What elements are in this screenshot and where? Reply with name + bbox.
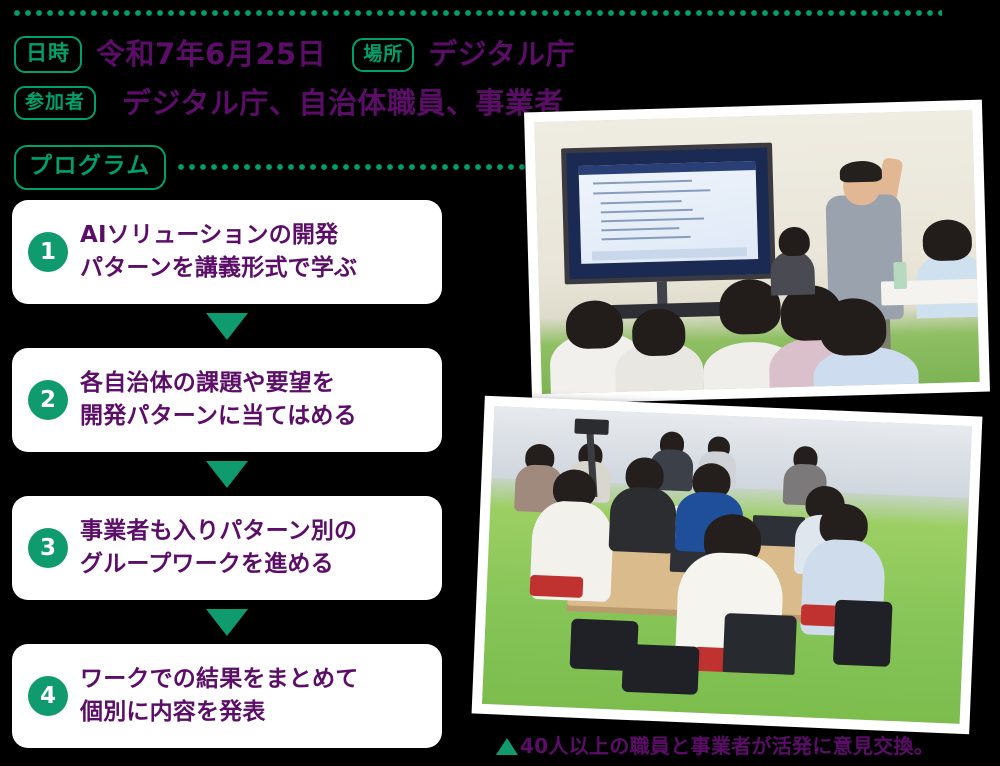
seated-staff-head [778, 226, 809, 257]
groupwork-scene [482, 406, 972, 724]
step-label: AIソリューションの開発 パターンを講義形式で学ぶ [80, 219, 357, 284]
meta-row-participants: 参加者 デジタル庁、自治体職員、事業者 [14, 86, 564, 120]
place-value: デジタル庁 [428, 40, 575, 69]
tote-bag [833, 599, 893, 667]
presentation-screen [561, 143, 775, 285]
program-step-1: 1 AIソリューションの開発 パターンを講義形式で学ぶ [12, 200, 442, 304]
slide-line [602, 227, 680, 231]
top-dotted-divider [14, 10, 942, 18]
audience-head [632, 308, 686, 356]
participants-value: デジタル庁、自治体職員、事業者 [122, 89, 564, 118]
camera [575, 418, 609, 434]
groupwork-photo [472, 396, 983, 735]
step-number-badge: 3 [28, 528, 68, 568]
step-arrow-3-to-4 [12, 600, 442, 644]
lecture-photo-image [534, 110, 979, 394]
step-label: ワークでの結果をまとめて 個別に内容を発表 [80, 663, 358, 728]
step-label: 各自治体の課題や要望を 開発パターンに当てはめる [80, 367, 357, 432]
program-step-2: 2 各自治体の課題や要望を 開発パターンに当てはめる [12, 348, 442, 452]
triangle-down-icon [206, 313, 248, 340]
program-badge: プログラム [14, 145, 166, 190]
step-arrow-2-to-3 [12, 452, 442, 496]
lecture-photo [524, 100, 990, 405]
triangle-down-icon [206, 461, 248, 488]
program-step-4: 4 ワークでの結果をまとめて 個別に内容を発表 [12, 644, 442, 748]
step-arrow-1-to-2 [12, 304, 442, 348]
date-value: 令和7年6月25日 [96, 40, 326, 69]
caption-text: 40人以上の職員と事業者が活発に意見交換。 [520, 736, 934, 756]
participant-body [608, 486, 678, 554]
meta-row-date-place: 日時 令和7年6月25日 場所 デジタル庁 [14, 36, 575, 73]
water-bottle [893, 261, 907, 289]
step-number-badge: 1 [28, 232, 68, 272]
slide-line [601, 209, 693, 214]
lecture-scene [534, 110, 979, 394]
slide-line [601, 217, 703, 222]
seated-staff-body [770, 250, 815, 295]
step-number-badge: 2 [28, 380, 68, 420]
slide-taskbar [592, 248, 747, 261]
program-dotted-divider [178, 164, 538, 172]
date-badge: 日時 [14, 36, 82, 73]
slide-topbar [579, 161, 755, 175]
slide-page [579, 161, 758, 264]
presenter-hair [840, 160, 882, 183]
program-step-3: 3 事業者も入りパターン別の グループワークを進める [12, 496, 442, 600]
audience-head [820, 297, 887, 356]
step-label: 事業者も入りパターン別の グループワークを進める [80, 515, 357, 580]
participants-badge: 参加者 [14, 86, 96, 120]
triangle-up-icon [496, 738, 518, 755]
backpack [621, 644, 699, 695]
program-heading: プログラム [14, 145, 538, 190]
triangle-down-icon [206, 609, 248, 636]
photo-caption: 40人以上の職員と事業者が活発に意見交換。 [496, 736, 934, 756]
chair-back [723, 613, 797, 676]
infographic-root: 日時 令和7年6月25日 場所 デジタル庁 参加者 デジタル庁、自治体職員、事業… [0, 0, 1000, 766]
slide-line [594, 190, 710, 195]
place-badge: 場所 [352, 38, 414, 72]
slide-line [593, 180, 692, 185]
chair [530, 575, 583, 598]
program-steps-list: 1 AIソリューションの開発 パターンを講義形式で学ぶ 2 各自治体の課題や要望… [12, 200, 442, 748]
groupwork-photo-image [482, 406, 972, 724]
slide-line [602, 235, 690, 239]
slide-line [601, 200, 682, 204]
audience-head [923, 219, 972, 261]
step-number-badge: 4 [28, 676, 68, 716]
